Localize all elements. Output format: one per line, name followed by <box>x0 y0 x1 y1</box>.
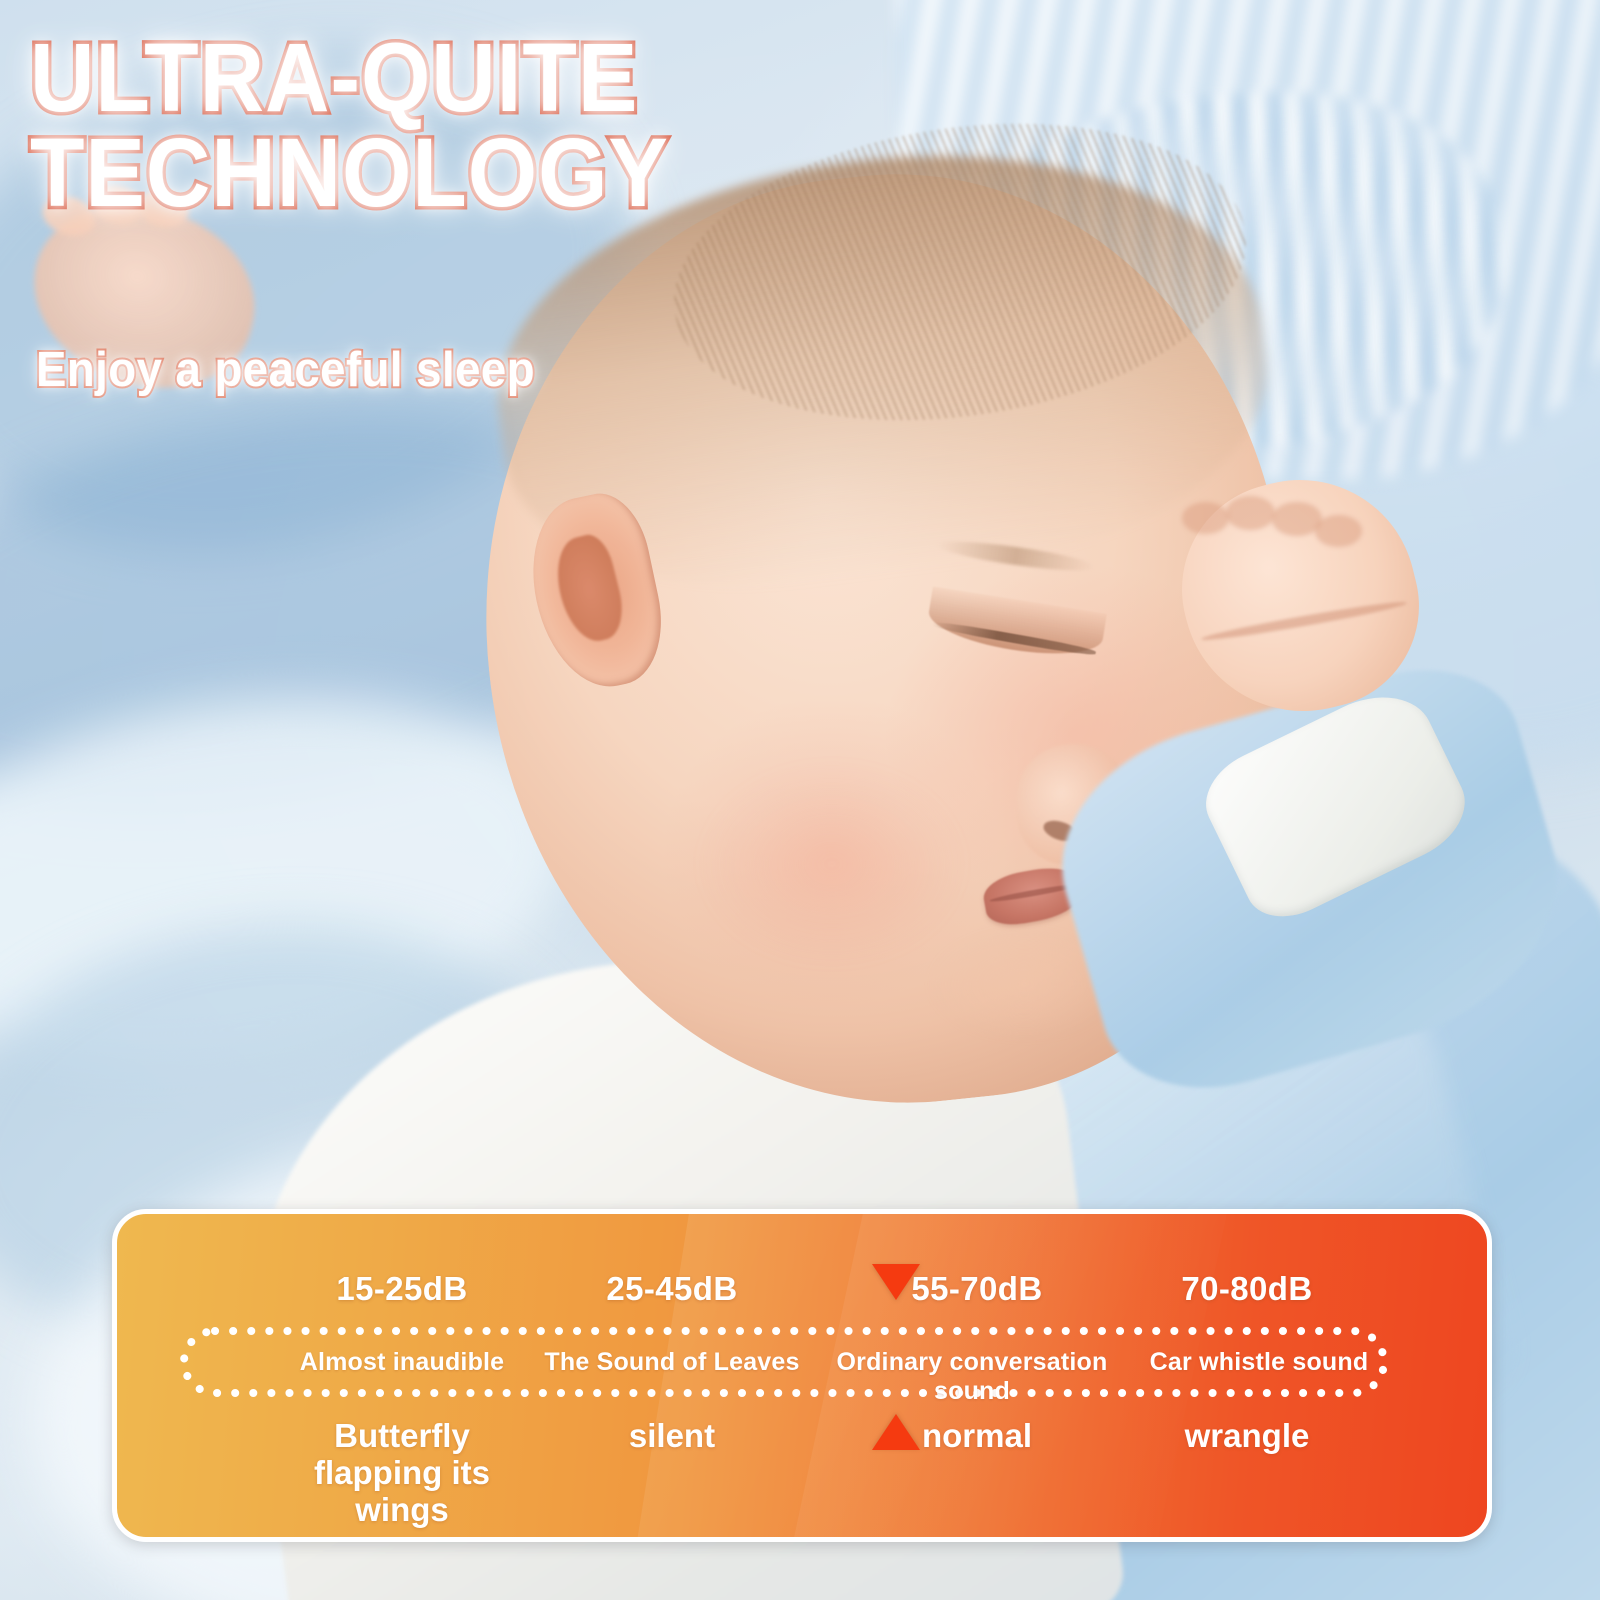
triangle-down-marker-icon <box>872 1264 920 1300</box>
sound-label-3: Car whistle sound <box>1134 1348 1384 1377</box>
headline-line-2: TECHNOLOGY <box>30 125 932 220</box>
example-label-3: wrangle <box>1112 1418 1382 1455</box>
example-label-0-line1: Butterfly <box>267 1418 537 1455</box>
knuckle <box>1315 515 1361 547</box>
example-label-0-line2: flapping its wings <box>267 1455 537 1529</box>
knuckle <box>1226 496 1276 530</box>
headline-line-1: ULTRA-QUITE <box>30 30 932 125</box>
knuckle <box>1272 502 1322 536</box>
db-value-1: 25-45dB <box>537 1270 807 1308</box>
example-label-0: Butterfly flapping its wings <box>267 1418 537 1529</box>
example-label-3-line1: wrangle <box>1112 1418 1382 1455</box>
sound-reference-row: Almost inaudible The Sound of Leaves Ord… <box>179 1326 1389 1398</box>
decibel-values-row: 15-25dB 25-45dB 55-70dB 70-80dB <box>117 1270 1487 1314</box>
example-labels-row: Butterfly flapping its wings silent norm… <box>117 1418 1487 1528</box>
sound-label-1: The Sound of Leaves <box>537 1348 807 1377</box>
headline-block: ULTRA-QUITE TECHNOLOGY <box>30 30 1010 220</box>
decibel-scale-panel: 15-25dB 25-45dB 55-70dB 70-80dB Almost i… <box>112 1209 1492 1542</box>
sound-label-0: Almost inaudible <box>267 1348 537 1377</box>
db-value-0: 15-25dB <box>267 1270 537 1308</box>
triangle-up-marker-icon <box>872 1414 920 1450</box>
promo-banner: ULTRA-QUITE TECHNOLOGY Enjoy a peaceful … <box>0 0 1600 1600</box>
example-label-1-line1: silent <box>537 1418 807 1455</box>
example-label-1: silent <box>537 1418 807 1455</box>
db-value-3: 70-80dB <box>1112 1270 1382 1308</box>
subtitle: Enjoy a peaceful sleep <box>36 342 535 398</box>
baby-cheek <box>704 768 960 960</box>
sound-label-2: Ordinary conversation sound <box>802 1348 1142 1406</box>
